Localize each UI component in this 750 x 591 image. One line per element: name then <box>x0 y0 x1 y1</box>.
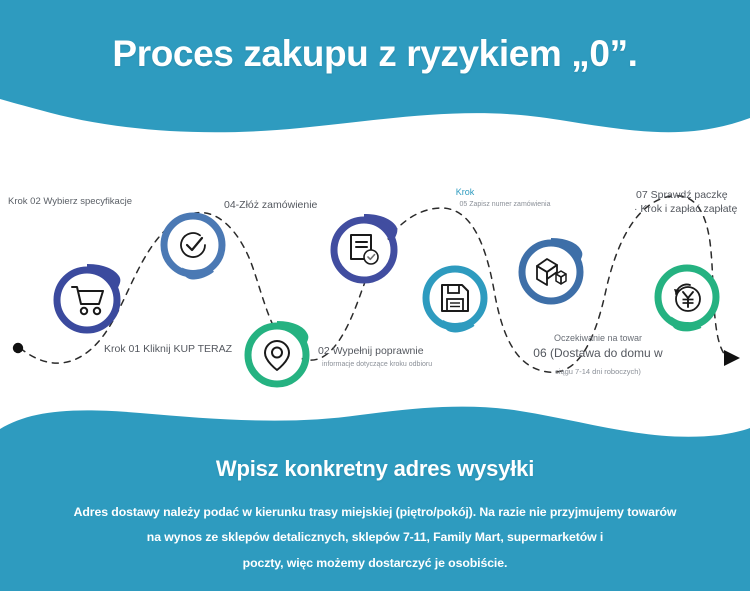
step-label-04: 04-Złóż zamówienie <box>224 198 317 212</box>
step-label-03: 02 Wypełnij poprawnie <box>318 344 424 358</box>
footer-title: Wpisz konkretny adres wysyłki <box>0 456 750 482</box>
step-label2-05: 05 Zapisz numer zamówienia <box>415 200 595 209</box>
end-arrow <box>724 350 740 366</box>
step-label-01: Krok 01 Kliknij KUP TERAZ <box>104 342 232 356</box>
floppy-save-icon <box>440 283 470 313</box>
step-label2-07: · Krok i zapłać zapłatę <box>634 202 737 216</box>
step-sublabel-03: informacje dotyczące kroku odbioru <box>322 360 432 369</box>
check-circle-icon <box>177 229 209 261</box>
footer-line-1: Adres dostawy należy podać w kierunku tr… <box>55 500 695 525</box>
step-label-02: Krok 02 Wybierz specyfikacje <box>8 196 132 209</box>
step-label2-06: 06 (Dostawa do domu w <box>508 345 688 361</box>
header-band <box>0 0 750 150</box>
infographic-canvas: Proces zakupu z ryzykiem „0”. <box>0 0 750 591</box>
step-sublabel-06: ciągu 7-14 dni roboczych) <box>518 367 678 377</box>
document-check-icon <box>347 233 381 267</box>
footer-line-2: na wynos ze sklepów detalicznych, sklepó… <box>55 525 695 550</box>
footer-line-3: poczty, więc możemy dostarczyć je osobiś… <box>55 551 695 576</box>
start-dot <box>13 343 23 353</box>
package-box-icon <box>534 257 568 288</box>
process-flow: Krok 01 Kliknij KUP TERAZ Krok 02 Wybier… <box>0 150 750 400</box>
step-label-05: Krok <box>420 186 510 198</box>
footer-body: Adres dostawy należy podać w kierunku tr… <box>55 500 695 576</box>
map-marker-icon <box>262 339 292 372</box>
page-title: Proces zakupu z ryzykiem „0”. <box>0 34 750 75</box>
step-label-07: 07 Sprawdź paczkę <box>636 188 728 202</box>
refund-yen-icon <box>670 280 704 314</box>
shopping-cart-icon <box>70 284 104 316</box>
